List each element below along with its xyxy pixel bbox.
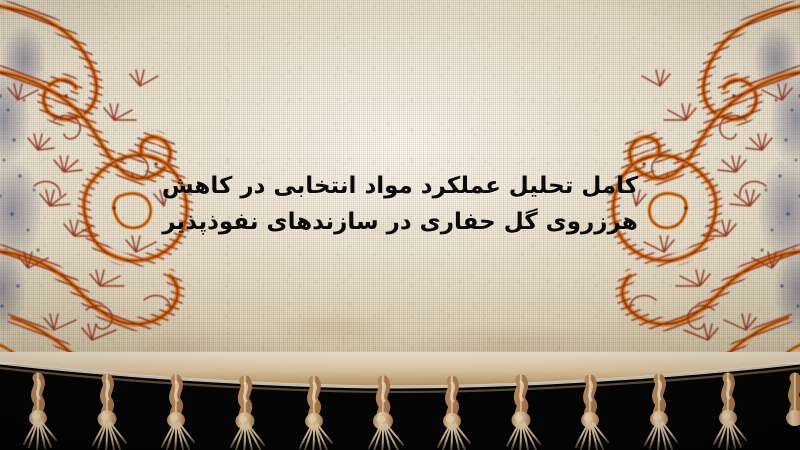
page-title: کامل تحلیل عملکرد مواد انتخابی در کاهش ه… xyxy=(0,168,800,240)
tassel-fringe xyxy=(0,352,800,450)
title-line-2: هرزروی گل حفاری در سازندهای نفوذپذیر xyxy=(0,204,800,240)
title-card-canvas: کامل تحلیل عملکرد مواد انتخابی در کاهش ه… xyxy=(0,0,800,450)
title-line-1: کامل تحلیل عملکرد مواد انتخابی در کاهش xyxy=(0,168,800,204)
